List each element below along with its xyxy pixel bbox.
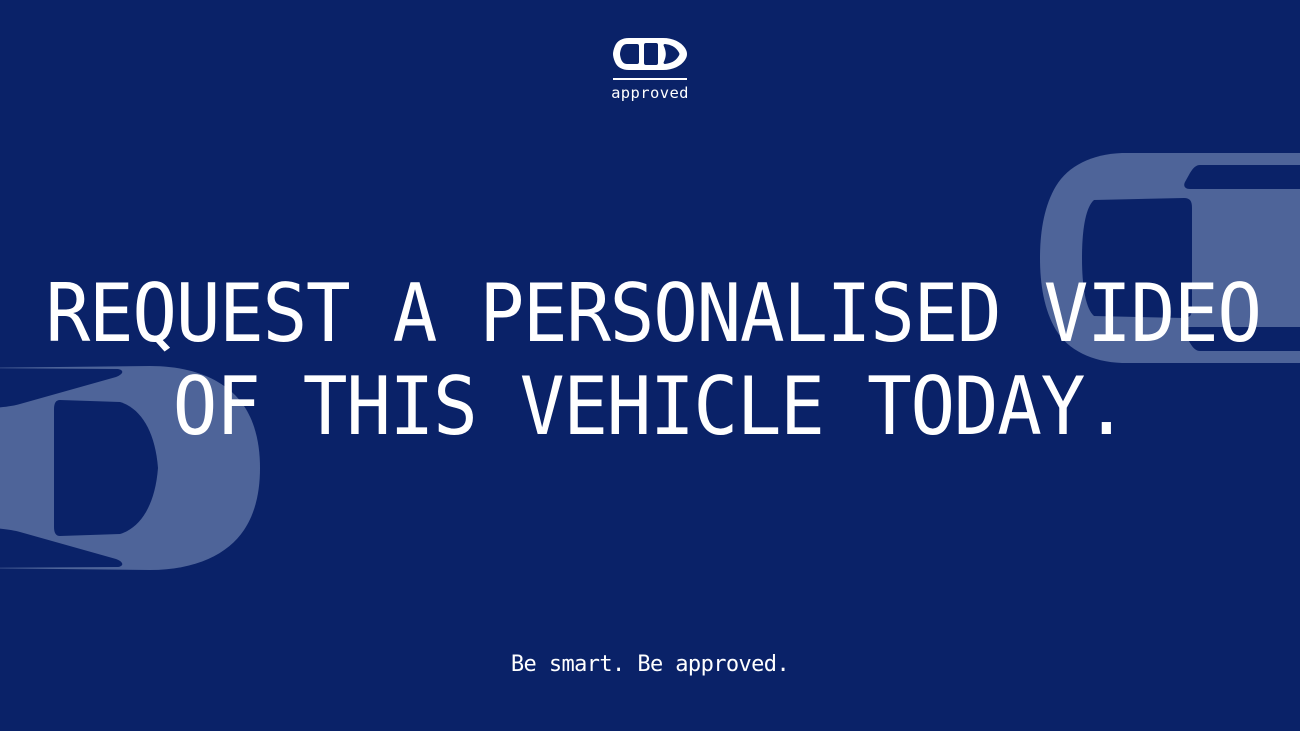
approved-logo-lockup: approved <box>0 36 1300 102</box>
promo-slide: approved REQUEST A PERSONALISED VIDEO OF… <box>0 0 1300 731</box>
headline-line-2: OF THIS VEHICLE TODAY. <box>46 361 1255 454</box>
approved-car-top-view-icon <box>613 36 687 72</box>
headline: REQUEST A PERSONALISED VIDEO OF THIS VEH… <box>0 268 1300 454</box>
logo-divider-rule <box>613 78 687 80</box>
logo-wordmark: approved <box>611 86 689 102</box>
tagline: Be smart. Be approved. <box>0 654 1300 676</box>
headline-line-1: REQUEST A PERSONALISED VIDEO <box>46 268 1255 361</box>
